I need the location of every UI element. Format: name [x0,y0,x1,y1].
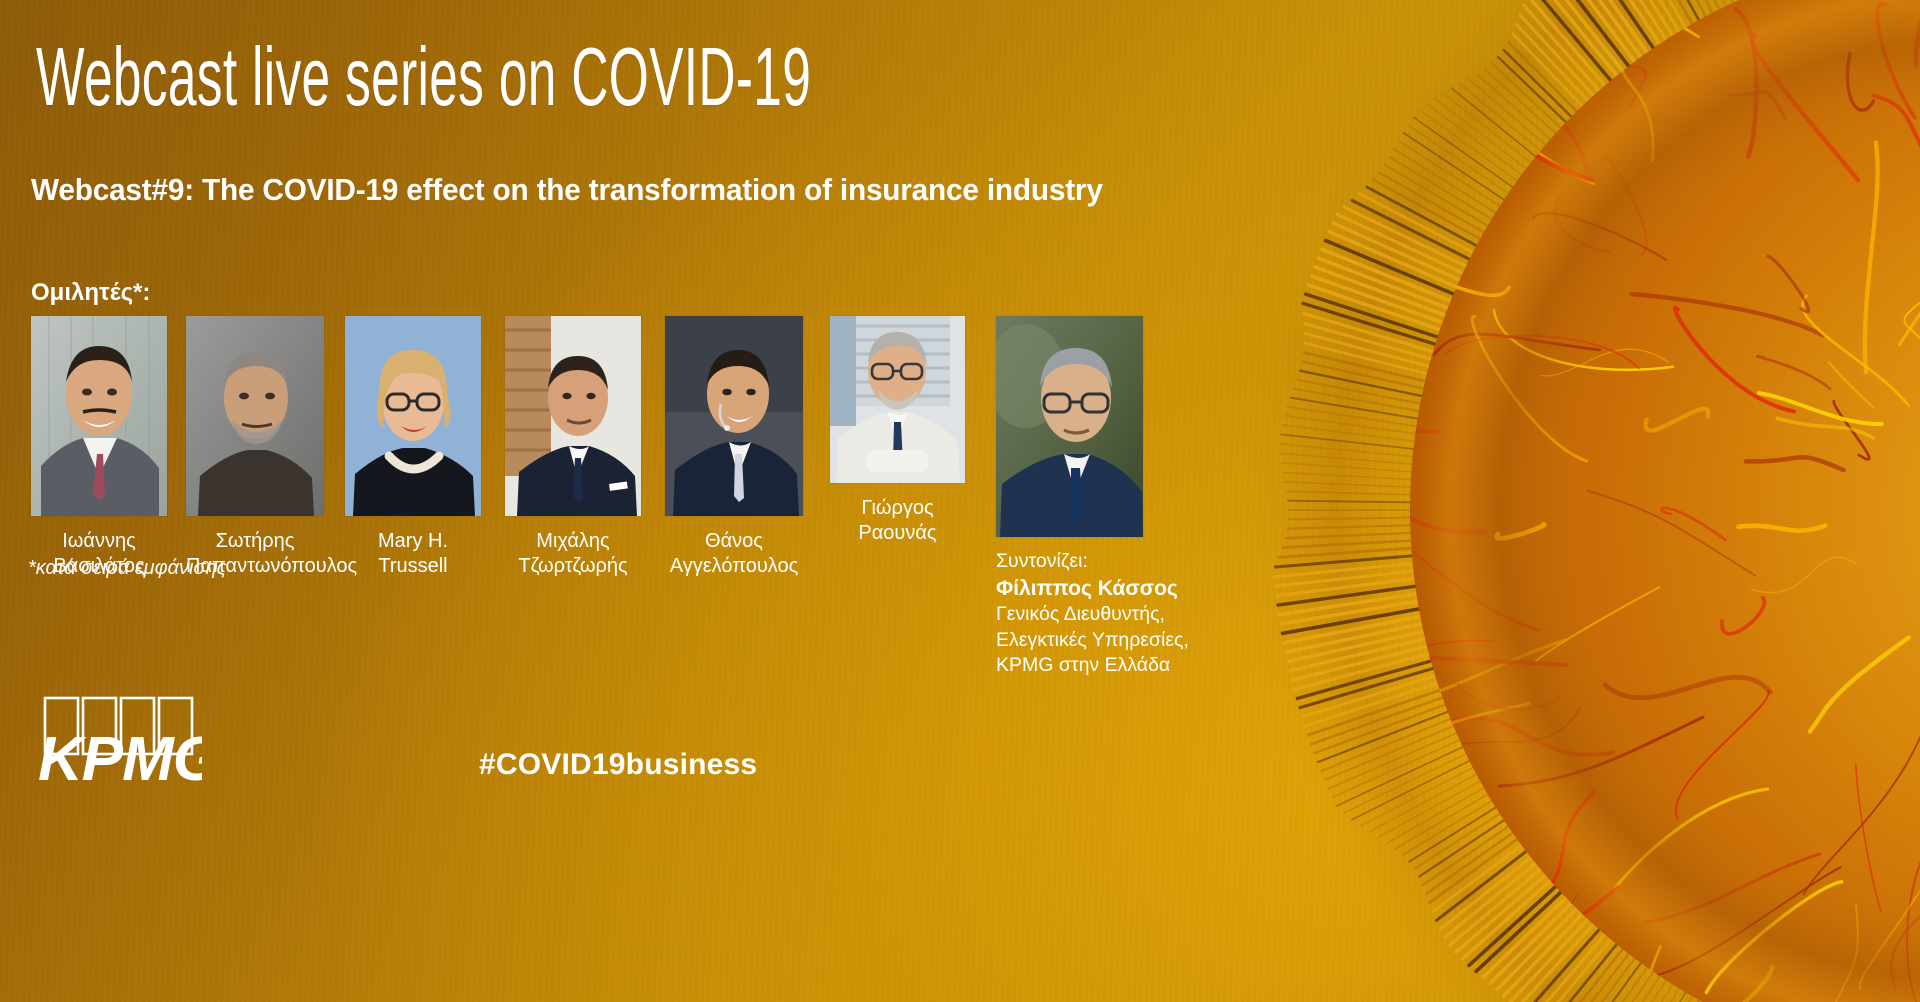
speakers-label: Ομιλητές*: [31,279,150,307]
speaker-photo [830,316,965,483]
slide-background: Webcast live series on COVID-19 Webcast#… [0,0,1920,1002]
speaker-card: Ιωάννης Βασιλάτος [31,316,167,578]
speaker-card: Γιώργος Ραουνάς [830,316,965,545]
speaker-card: Mary H. Trussell [345,316,481,578]
speaker-name: Γιώργος Ραουνάς [830,496,965,545]
speaker-name: Mary H. Trussell [345,529,481,578]
moderator-title-line-1: Γενικός Διευθυντής, [996,602,1296,628]
moderator-title-line-2: Ελεγκτικές Υπηρεσίες, [996,628,1296,654]
speaker-card: Θάνος Αγγελόπουλος [665,316,803,578]
kpmg-logo: KPMG [36,694,202,790]
webcast-subtitle: Webcast#9: The COVID-19 effect on the tr… [31,172,1103,208]
moderator-card: Συντονίζει: Φίλιππος Κάσσος Γενικός Διευ… [996,316,1296,679]
speaker-photo [186,316,324,516]
moderator-title-line-3: KPMG στην Ελλάδα [996,653,1296,679]
hashtag: #COVID19business [479,748,757,782]
moderator-role-label: Συντονίζει: [996,549,1296,575]
speaker-name: Θάνος Αγγελόπουλος [665,529,803,578]
speaker-name: Μιχάλης Τζωρτζωρής [505,529,641,578]
page-title: Webcast live series on COVID-19 [36,35,811,118]
speaker-photo [665,316,803,516]
speaker-photo [31,316,167,516]
moderator-details: Συντονίζει: Φίλιππος Κάσσος Γενικός Διευ… [996,549,1296,679]
moderator-photo [996,316,1143,537]
speaker-photo [505,316,641,516]
speaker-card: Μιχάλης Τζωρτζωρής [505,316,641,578]
speaker-photo [345,316,481,516]
speakers-list: Ιωάννης Βασιλάτος [31,316,1031,576]
svg-text:KPMG: KPMG [38,725,202,790]
speakers-footnote: *κατά σειρά εμφάνισης [28,557,226,580]
moderator-name: Φίλιππος Κάσσος [996,575,1296,603]
speaker-card: Σωτήρης Παπαντωνόπουλος [186,316,324,578]
